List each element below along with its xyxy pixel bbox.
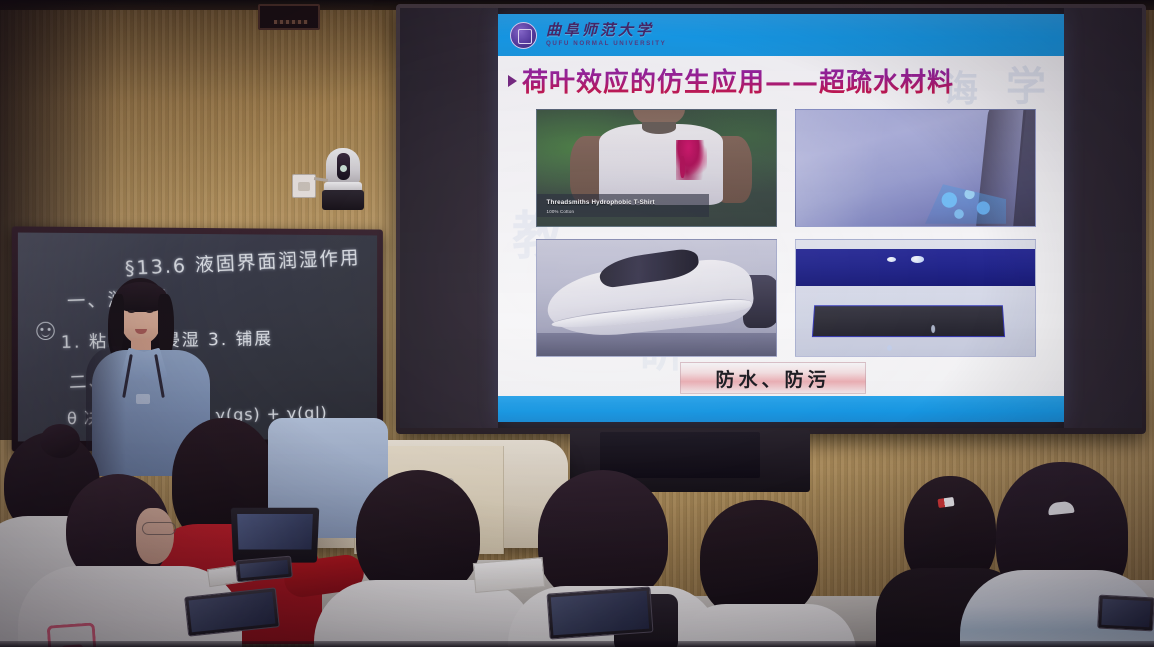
student-hair-bun bbox=[40, 424, 80, 458]
tablet-screen bbox=[1101, 599, 1150, 627]
screen-letterbox-right bbox=[1064, 8, 1142, 428]
instructor-eye-left bbox=[128, 310, 135, 313]
photo-car-windshield bbox=[795, 109, 1036, 227]
university-name-block: 曲阜师范大学 QUFU NORMAL UNIVERSITY bbox=[546, 23, 666, 47]
camera-head bbox=[326, 148, 360, 184]
instructor-eye-right bbox=[146, 310, 153, 313]
tablet-screen bbox=[551, 591, 649, 636]
glasses-icon bbox=[142, 522, 176, 535]
tablet-device[interactable] bbox=[1097, 595, 1154, 632]
water-droplet bbox=[931, 325, 935, 333]
slide-title-row: 荷叶效应的仿生应用——超疏水材料 bbox=[508, 62, 954, 99]
wall-socket-icon bbox=[292, 174, 316, 198]
slide-caption: 防水、防污 bbox=[715, 365, 830, 392]
camera-base bbox=[322, 190, 364, 210]
university-name-en: QUFU NORMAL UNIVERSITY bbox=[546, 41, 666, 47]
instructor-hair-left bbox=[110, 294, 124, 352]
student-right bbox=[690, 500, 840, 647]
photo-caption-line1: Threadsmiths Hydrophobic T-Shirt bbox=[547, 199, 655, 206]
screen-letterbox-left bbox=[400, 8, 498, 428]
wall-vent-icon bbox=[258, 4, 320, 30]
water-droplet bbox=[887, 257, 896, 262]
presentation-slide: 诲 学 教 研 曲阜师范大学 QUFU NORMAL UNIVERSITY 荷叶… bbox=[498, 14, 1064, 422]
student-face bbox=[136, 508, 174, 564]
water-droplet bbox=[887, 345, 892, 351]
liquid-splash bbox=[676, 140, 707, 179]
lecture-hall-scene: §13.6 液固界面润湿作用 一、润湿侧 1. 粘湿 2. 浸湿 3. 铺展 二… bbox=[0, 0, 1154, 647]
slide-title: 荷叶效应的仿生应用——超疏水材料 bbox=[522, 62, 954, 99]
water-droplet bbox=[911, 256, 924, 263]
tablet-screen bbox=[239, 560, 288, 578]
photo-hydrophobic-tshirt: Threadsmiths Hydrophobic T-Shirt 100% Co… bbox=[536, 109, 777, 227]
sneaker-floor bbox=[537, 333, 776, 356]
university-name-cn: 曲阜师范大学 bbox=[546, 23, 666, 38]
student-hair bbox=[356, 470, 480, 598]
bottom-edge bbox=[0, 641, 1154, 647]
photo-caption-line2: 100% Cotton bbox=[547, 209, 575, 214]
watermark-2: 学 bbox=[1006, 54, 1046, 112]
laptop-device[interactable] bbox=[231, 508, 320, 563]
tablet-screen bbox=[189, 592, 276, 633]
camera-lens bbox=[337, 153, 350, 180]
coated-panel-upper bbox=[796, 249, 1035, 286]
projection-display: 诲 学 教 研 曲阜师范大学 QUFU NORMAL UNIVERSITY 荷叶… bbox=[396, 4, 1146, 434]
instructor-hair-right bbox=[158, 294, 174, 356]
arrow-bullet-icon bbox=[508, 75, 517, 87]
student-hair bbox=[538, 470, 668, 602]
slide-footer bbox=[498, 396, 1064, 422]
display-screen: 诲 学 教 研 曲阜师范大学 QUFU NORMAL UNIVERSITY 荷叶… bbox=[400, 8, 1142, 428]
student-hair bbox=[700, 500, 818, 620]
tablet-device[interactable] bbox=[547, 586, 654, 639]
slide-image-grid: Threadsmiths Hydrophobic T-Shirt 100% Co… bbox=[536, 109, 1036, 357]
instructor-badge bbox=[136, 394, 150, 404]
student-center bbox=[330, 470, 520, 647]
notebook-page bbox=[473, 557, 545, 593]
university-seal-icon bbox=[510, 22, 537, 49]
slide-caption-box: 防水、防污 bbox=[680, 362, 866, 394]
slide-header: 曲阜师范大学 QUFU NORMAL UNIVERSITY bbox=[498, 14, 1064, 56]
coated-panel-lower bbox=[812, 305, 1006, 337]
photo-white-sneaker bbox=[536, 239, 777, 357]
photo-coated-panel bbox=[795, 239, 1036, 357]
ptz-camera-icon bbox=[322, 148, 364, 214]
